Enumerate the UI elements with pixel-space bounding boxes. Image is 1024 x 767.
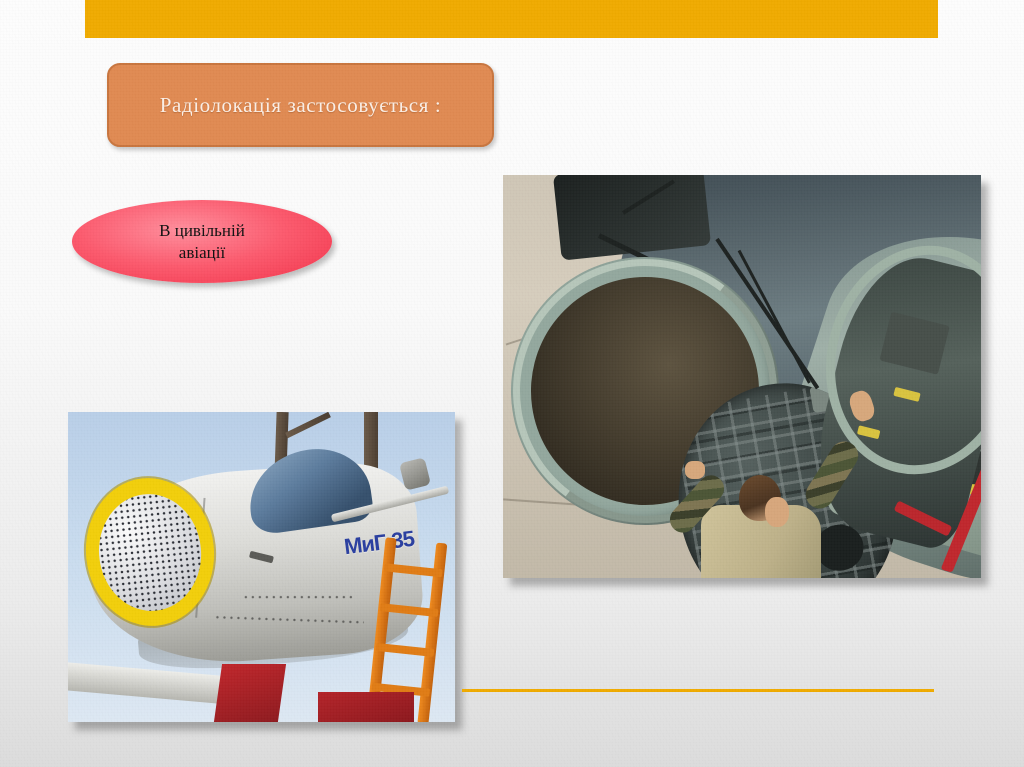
rivet-row xyxy=(242,595,352,599)
mig-35-aesa-radar-photo: МиГ-35 xyxy=(68,412,455,722)
intake-cover-red xyxy=(318,692,414,722)
bottom-amber-rule xyxy=(462,689,934,692)
intake-cover-red xyxy=(214,664,286,722)
title-banner: Радіолокація застосовується : xyxy=(107,63,494,147)
aesa-element-grid xyxy=(93,489,207,616)
top-amber-bar xyxy=(85,0,938,38)
category-ellipse-civil-aviation: В цивільній авіації xyxy=(72,200,332,283)
technician-face xyxy=(765,497,789,527)
category-ellipse-label: В цивільній авіації xyxy=(159,220,245,263)
radar-bay-scene xyxy=(503,175,981,578)
technician-hand-left xyxy=(685,461,705,479)
access-hatch xyxy=(249,551,274,564)
page-title: Радіолокація застосовується : xyxy=(160,93,442,118)
aircraft-radar-bay-photo xyxy=(503,175,981,578)
aesa-antenna-array xyxy=(93,489,207,616)
rivet-row xyxy=(214,615,364,624)
